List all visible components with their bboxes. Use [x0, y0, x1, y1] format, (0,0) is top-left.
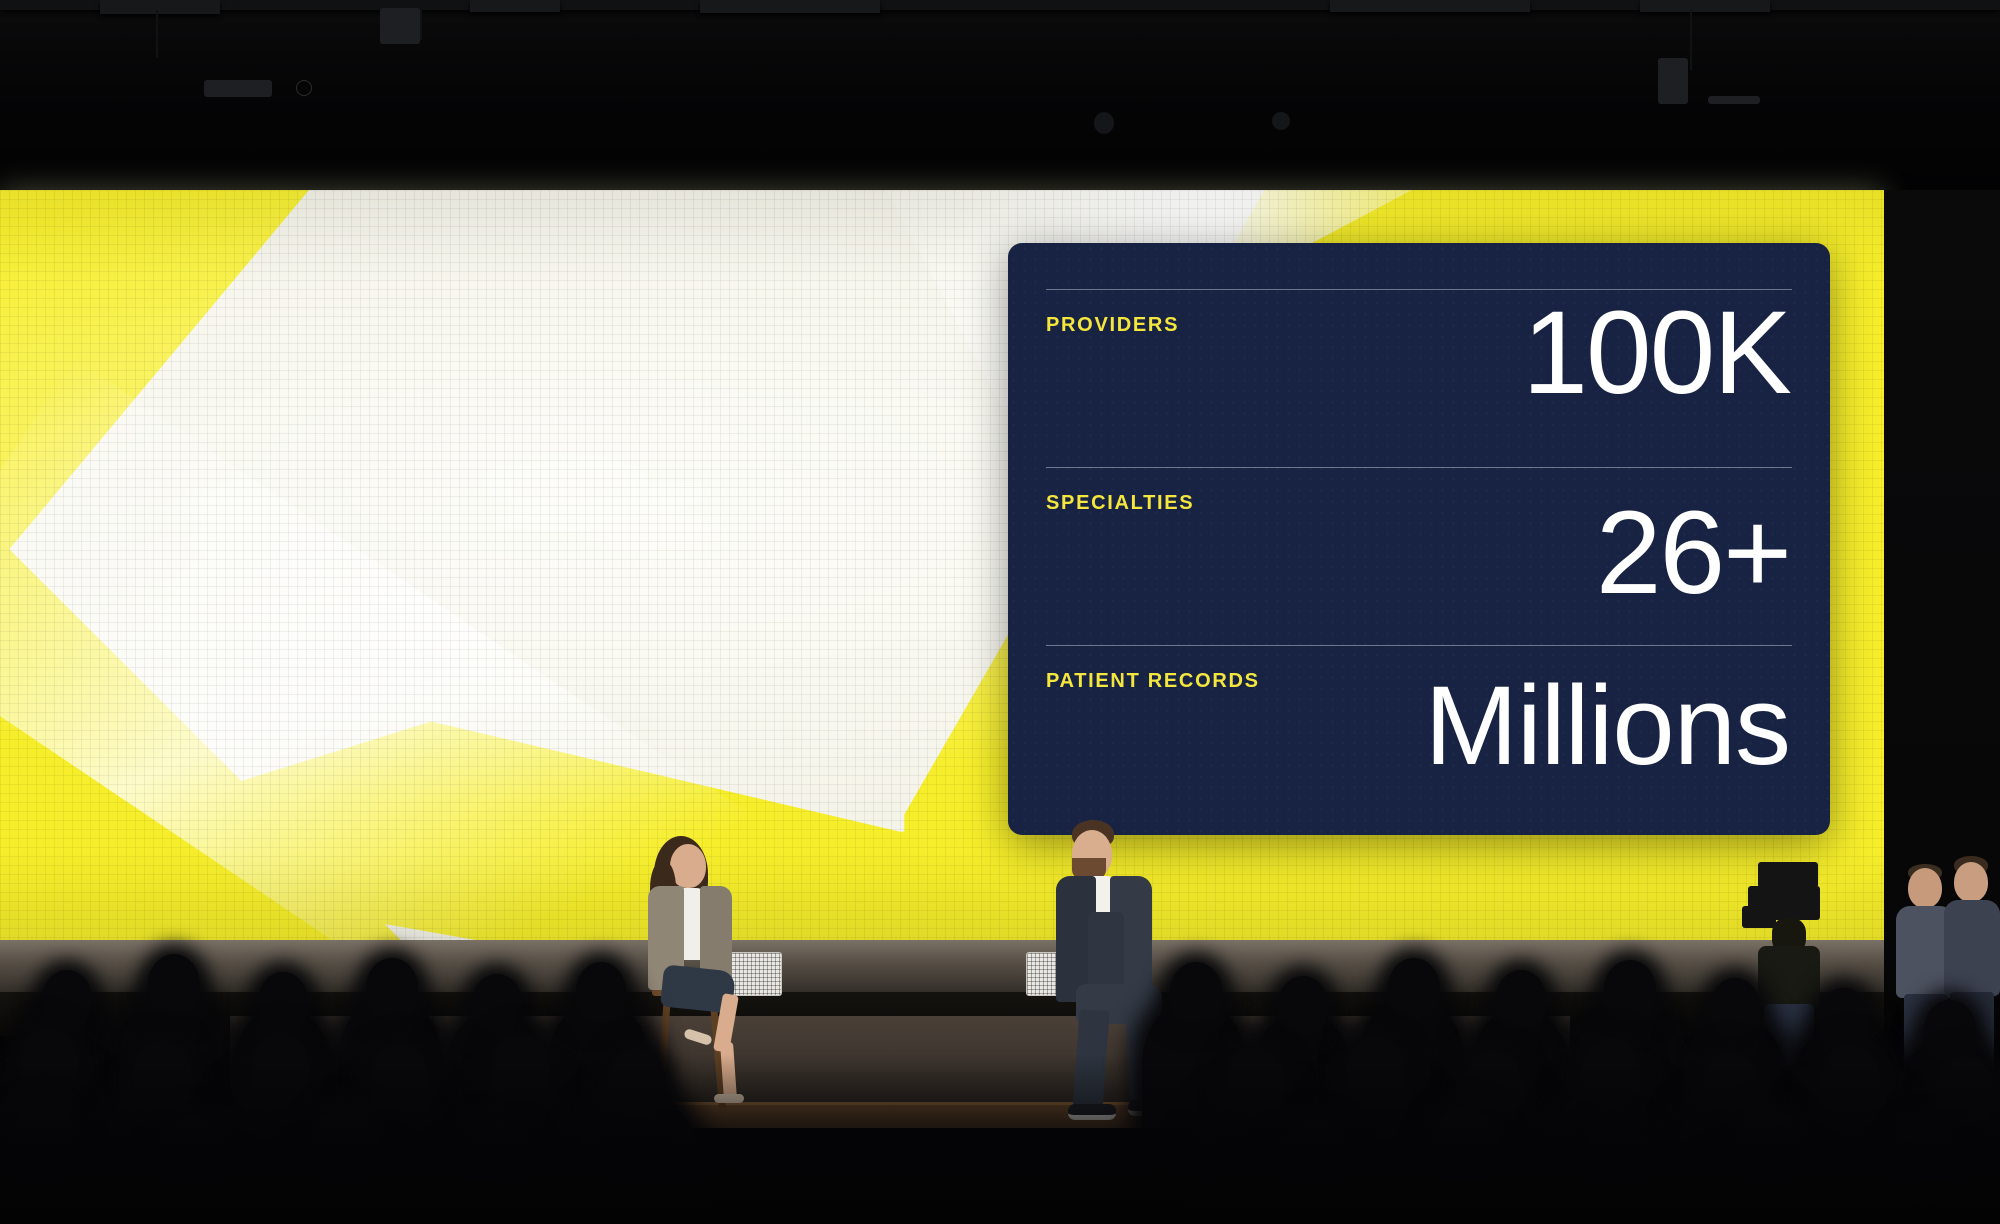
audience-member: [1792, 1086, 1912, 1224]
speaker-right-trousers: [1072, 1009, 1109, 1115]
rig-cable: [420, 10, 422, 40]
audience-member-head: [1430, 1108, 1500, 1188]
camera-operator-torso: [1758, 946, 1820, 1010]
audience-member: [1672, 1094, 1792, 1224]
rig-cable: [156, 10, 158, 58]
stool-leg: [656, 992, 671, 1112]
truss-segment: [100, 0, 220, 14]
stats-card: PROVIDERS 100K SPECIALTIES 26+ PATIENT R…: [1008, 243, 1830, 835]
speaker-left-leg: [720, 1042, 737, 1101]
audience-member-head: [134, 1040, 192, 1108]
audience-member: [102, 1082, 222, 1224]
speaker-left-shoe: [714, 1094, 744, 1103]
audience-member: [1696, 1156, 1846, 1224]
crew-head: [1908, 868, 1942, 908]
audience-member-head: [1734, 1110, 1804, 1190]
audience-member-head: [1582, 1038, 1640, 1106]
stage-light: [1708, 96, 1760, 104]
stat-label-specialties: SPECIALTIES: [1046, 493, 1194, 513]
stage-light: [204, 80, 272, 97]
speaker-right-trousers: [1125, 1009, 1160, 1110]
audience-member-head: [20, 1028, 78, 1096]
audience-member-head: [8, 1104, 78, 1184]
stat-value-patient-records: Millions: [1425, 670, 1790, 782]
audience-member-head: [1702, 1052, 1760, 1120]
stage-riser-lower: [470, 1176, 1390, 1224]
audience-member: [272, 1152, 424, 1224]
stats-card-inner: PROVIDERS 100K SPECIALTIES 26+ PATIENT R…: [1046, 243, 1792, 835]
crew-legs: [1904, 994, 1948, 1070]
audience-member-head: [158, 1116, 228, 1196]
stage-light: [1272, 112, 1290, 130]
stage-riser: [430, 1102, 1430, 1184]
stat-row: SPECIALTIES 26+: [1046, 467, 1792, 645]
stage-light: [1094, 112, 1114, 134]
crew-legs: [1950, 992, 1994, 1070]
stage-light: [1658, 58, 1688, 104]
stat-row: PATIENT RECORDS Millions: [1046, 645, 1792, 823]
stage-apron: [0, 940, 1884, 996]
truss-segment: [1330, 0, 1530, 12]
ceiling-truss-area: [0, 0, 2000, 196]
stage-light: [296, 80, 312, 96]
stat-row: PROVIDERS 100K: [1046, 289, 1792, 467]
stage-floor: [230, 1016, 1570, 1112]
audience-member-head: [1582, 1122, 1652, 1202]
stage-light: [380, 8, 420, 44]
crew-head: [1954, 862, 1988, 902]
truss-segment: [1640, 0, 1770, 12]
speaker-right-sneaker: [1128, 1100, 1172, 1116]
audience-member: [0, 1150, 120, 1224]
audience-member-head: [310, 1106, 380, 1186]
audience-member: [1544, 1168, 1696, 1224]
stat-value-providers: 100K: [1522, 294, 1790, 412]
audience-member: [120, 1162, 270, 1224]
truss-segment: [700, 0, 880, 13]
camera-lens: [1742, 906, 1776, 928]
speaker-left-shoe: [683, 1028, 713, 1046]
speaker-left: [636, 836, 766, 1136]
crew-torso: [1944, 900, 2000, 996]
stat-label-patient-records: PATIENT RECORDS: [1046, 671, 1260, 691]
stat-value-specialties: 26+: [1596, 494, 1790, 612]
audience-member: [0, 1070, 108, 1220]
standing-crew-member: [1944, 856, 2000, 1066]
audience-member-head: [1888, 1124, 1958, 1204]
truss-segment: [470, 0, 560, 12]
audience-member: [1848, 1170, 2000, 1224]
speaker-right: [1046, 820, 1186, 1140]
audience-member: [1906, 1098, 2000, 1224]
stage-scene: PROVIDERS 100K SPECIALTIES 26+ PATIENT R…: [0, 0, 2000, 1224]
camera-rig-top: [1758, 862, 1818, 888]
stat-label-providers: PROVIDERS: [1046, 315, 1179, 335]
rig-cable: [1690, 10, 1692, 70]
speaker-right-sneaker: [1068, 1104, 1116, 1120]
camera-operator-legs: [1764, 1004, 1814, 1066]
camera-operator: [1742, 862, 1838, 1062]
